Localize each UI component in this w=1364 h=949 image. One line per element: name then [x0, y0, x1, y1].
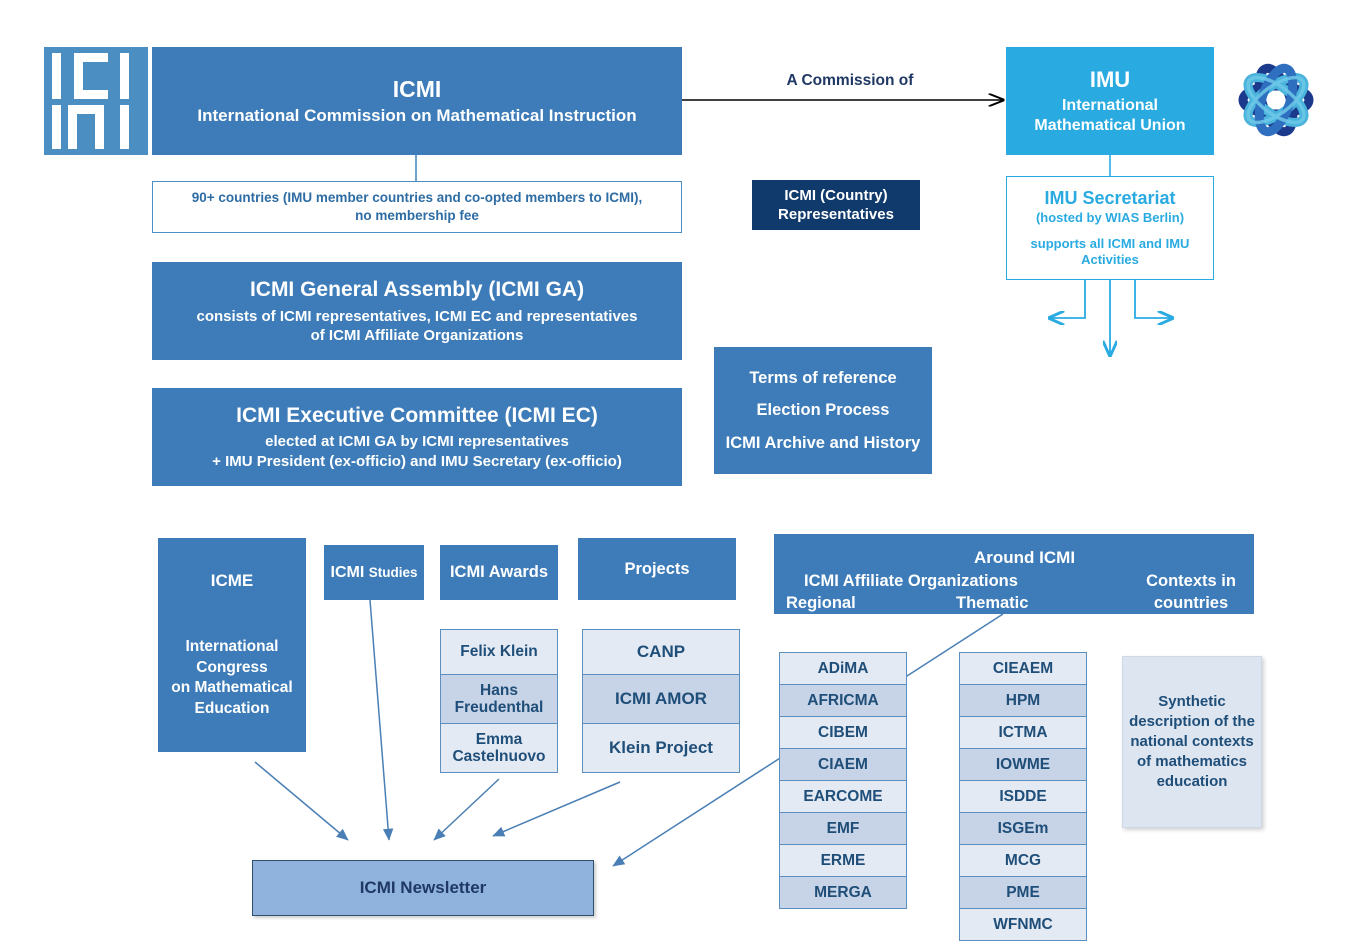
icme-box[interactable]: ICME International Congress on Mathemati… — [158, 538, 306, 752]
imu-name-line1: International — [1062, 96, 1158, 116]
project-item-canp[interactable]: CANP — [582, 629, 740, 675]
terms-item-0: Terms of reference — [749, 362, 896, 394]
icmi-awards-box[interactable]: ICMI Awards — [440, 545, 558, 600]
countries-line2: no membership fee — [355, 207, 479, 225]
regional-item-adima[interactable]: ADiMA — [779, 652, 907, 685]
ec-line1: elected at ICMI GA by ICMI representativ… — [265, 432, 569, 452]
thematic-item-ictma[interactable]: ICTMA — [959, 716, 1087, 749]
regional-item-erme[interactable]: ERME — [779, 844, 907, 877]
award-item-felix-klein[interactable]: Felix Klein — [440, 629, 558, 675]
icme-line1: International — [185, 637, 278, 657]
affiliate-organizations-label: ICMI Affiliate Organizations — [804, 572, 1018, 591]
icmi-newsletter-box[interactable]: ICMI Newsletter — [252, 860, 594, 916]
terms-of-reference-box[interactable]: Terms of reference Election Process ICMI… — [714, 347, 932, 474]
icmi-studies-box[interactable]: ICMI Studies — [324, 545, 424, 600]
thematic-item-pme[interactable]: PME — [959, 876, 1087, 909]
icmi-awards-stack: Felix Klein Hans Freudenthal Emma Castel… — [440, 629, 558, 773]
terms-item-1: Election Process — [757, 394, 890, 426]
projects-stack: CANP ICMI AMOR Klein Project — [582, 629, 740, 773]
regional-item-africma[interactable]: AFRICMA — [779, 684, 907, 717]
icmi-executive-committee-box[interactable]: ICMI Executive Committee (ICMI EC) elect… — [152, 388, 682, 486]
awards-title: ICMI Awards — [450, 563, 548, 582]
icmi-logo-mark — [44, 47, 148, 155]
thematic-item-hpm[interactable]: HPM — [959, 684, 1087, 717]
icme-acronym: ICME — [211, 571, 254, 591]
connector-icme-to-newsletter — [255, 762, 348, 840]
imu-name-line2: Mathematical Union — [1034, 116, 1185, 136]
terms-item-2: ICMI Archive and History — [726, 427, 921, 459]
regional-item-earcome[interactable]: EARCOME — [779, 780, 907, 813]
icme-line4: Education — [195, 699, 270, 719]
thematic-item-isdde[interactable]: ISDDE — [959, 780, 1087, 813]
secretariat-support-line1: supports all ICMI and IMU — [1031, 236, 1190, 252]
imu-knot-logo-mark — [1228, 46, 1324, 154]
reps-line2: Representatives — [778, 205, 894, 225]
studies-strong: ICMI — [331, 564, 365, 581]
reps-line1: ICMI (Country) — [784, 186, 887, 206]
connector-awards-to-newsletter — [434, 779, 499, 840]
project-item-icmi-amor[interactable]: ICMI AMOR — [582, 674, 740, 724]
award-item-emma-castelnuovo[interactable]: Emma Castelnuovo — [440, 723, 558, 773]
contexts-label-line2: countries — [1136, 594, 1246, 613]
thematic-item-iowme[interactable]: IOWME — [959, 748, 1087, 781]
connector-secretariat-right — [1135, 280, 1172, 318]
thematic-label: Thematic — [956, 594, 1028, 613]
secretariat-support-line2: Activities — [1081, 252, 1139, 268]
project-item-klein-project[interactable]: Klein Project — [582, 723, 740, 773]
synthetic-description-text: Synthetic description of the national co… — [1123, 692, 1261, 792]
thematic-item-mcg[interactable]: MCG — [959, 844, 1087, 877]
icmi-logo — [44, 47, 148, 155]
countries-box: 90+ countries (IMU member countries and … — [152, 181, 682, 233]
imu-knot-logo — [1228, 46, 1324, 154]
connector-projects-to-newsletter — [493, 782, 620, 836]
secretariat-host: (hosted by WIAS Berlin) — [1036, 210, 1184, 226]
imu-box[interactable]: IMU International Mathematical Union — [1006, 47, 1214, 155]
regional-label: Regional — [786, 594, 856, 613]
icmi-structure-diagram: ICMI International Commission on Mathema… — [0, 0, 1364, 949]
regional-item-cibem[interactable]: CIBEM — [779, 716, 907, 749]
icmi-general-assembly-box[interactable]: ICMI General Assembly (ICMI GA) consists… — [152, 262, 682, 360]
countries-line1: 90+ countries (IMU member countries and … — [192, 189, 642, 207]
regional-item-ciaem[interactable]: CIAEM — [779, 748, 907, 781]
icmi-country-representatives-box[interactable]: ICMI (Country) Representatives — [752, 180, 920, 230]
icmi-full-name: International Commission on Mathematical… — [197, 105, 636, 127]
icme-line2: Congress — [196, 658, 268, 678]
thematic-item-wfnmc[interactable]: WFNMC — [959, 908, 1087, 941]
thematic-item-isgem[interactable]: ISGEm — [959, 812, 1087, 845]
commission-arrow-label: A Commission of — [700, 72, 1000, 90]
ga-line2: of ICMI Affiliate Organizations — [311, 326, 524, 346]
studies-light: Studies — [369, 565, 418, 580]
connector-secretariat-left — [1050, 280, 1085, 318]
ga-title: ICMI General Assembly (ICMI GA) — [250, 276, 584, 303]
icme-line3: on Mathematical — [171, 678, 292, 698]
regional-item-merga[interactable]: MERGA — [779, 876, 907, 909]
imu-secretariat-box[interactable]: IMU Secretariat (hosted by WIAS Berlin) … — [1006, 176, 1214, 280]
projects-title: Projects — [624, 560, 689, 579]
thematic-item-cieaem[interactable]: CIEAEM — [959, 652, 1087, 685]
synthetic-description-box: Synthetic description of the national co… — [1122, 656, 1262, 828]
award-item-hans-freudenthal[interactable]: Hans Freudenthal — [440, 674, 558, 724]
contexts-label-line1: Contexts in — [1136, 572, 1246, 591]
connector-studies-to-newsletter — [370, 600, 389, 840]
imu-acronym: IMU — [1090, 66, 1130, 94]
around-icmi-title: Around ICMI — [974, 548, 1075, 568]
secretariat-title: IMU Secretariat — [1044, 188, 1175, 210]
around-icmi-box[interactable]: Around ICMI ICMI Affiliate Organizations… — [774, 534, 1254, 614]
projects-box[interactable]: Projects — [578, 538, 736, 600]
ec-line2: + IMU President (ex-officio) and IMU Sec… — [212, 452, 622, 472]
icmi-acronym: ICMI — [393, 75, 442, 104]
regional-organizations-stack: ADiMA AFRICMA CIBEM CIAEM EARCOME EMF ER… — [779, 652, 907, 909]
regional-item-emf[interactable]: EMF — [779, 812, 907, 845]
ec-title: ICMI Executive Committee (ICMI EC) — [236, 402, 598, 429]
icmi-main-box[interactable]: ICMI International Commission on Mathema… — [152, 47, 682, 155]
ga-line1: consists of ICMI representatives, ICMI E… — [197, 307, 638, 327]
newsletter-label: ICMI Newsletter — [360, 878, 487, 898]
thematic-organizations-stack: CIEAEM HPM ICTMA IOWME ISDDE ISGEm MCG P… — [959, 652, 1087, 941]
